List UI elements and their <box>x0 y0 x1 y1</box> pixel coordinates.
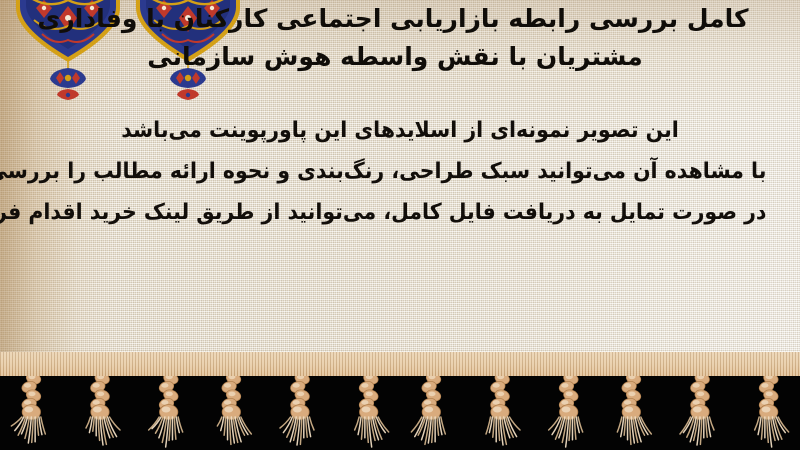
cloth-selvage-edge <box>0 352 800 376</box>
body-line-1: این تصویر نمونه‌ای از اسلایدهای این پاور… <box>34 110 767 151</box>
body-line-2: با مشاهده آن می‌توانید سبک طراحی، رنگ‌بن… <box>34 151 767 192</box>
carpet-tassel-fringe <box>0 352 800 450</box>
slide-title: کامل بررسی رابطه بازاریابی اجتماعی کارکن… <box>6 0 786 76</box>
title-line-2: مشتریان با نقش واسطه هوش سازمانی <box>6 38 786 76</box>
slide-canvas: کامل بررسی رابطه بازاریابی اجتماعی کارکن… <box>0 0 800 450</box>
body-line-3: در صورت تمایل به دریافت فایل کامل، می‌تو… <box>34 192 767 233</box>
title-line-1: کامل بررسی رابطه بازاریابی اجتماعی کارکن… <box>6 0 786 38</box>
slide-body: این تصویر نمونه‌ای از اسلایدهای این پاور… <box>6 110 794 233</box>
